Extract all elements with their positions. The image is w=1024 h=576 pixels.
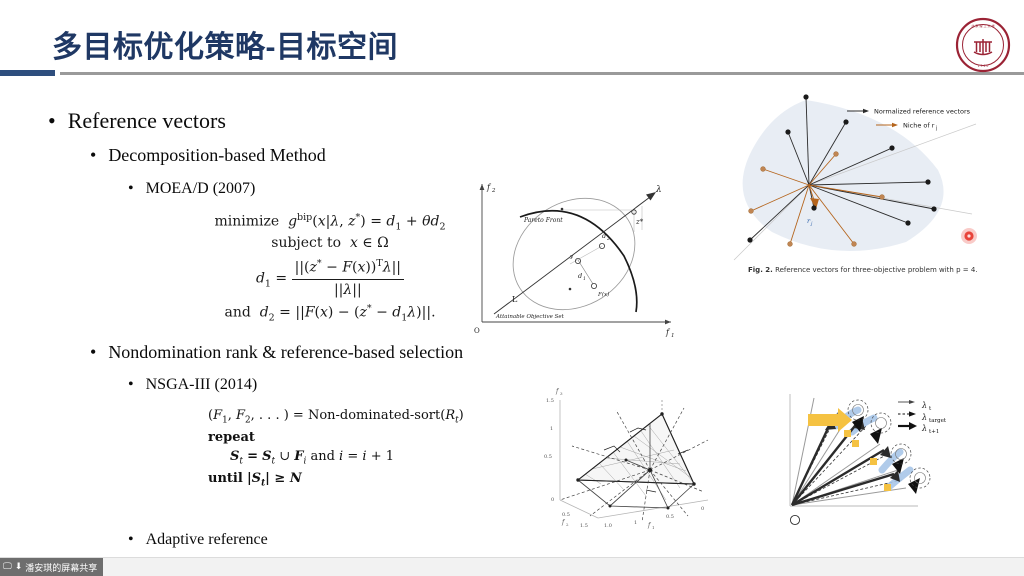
svg-text:1.5: 1.5	[580, 523, 588, 529]
nsga3-pseudocode-block: (F1, F2, . . . ) = Non-dominated-sort(Rt…	[208, 406, 488, 491]
svg-text:d: d	[602, 232, 606, 240]
bullet-label: Nondomination rank & reference-based sel…	[108, 342, 463, 362]
svg-text:1: 1	[550, 426, 553, 432]
svg-text:0.5: 0.5	[562, 512, 570, 518]
svg-text:1.5: 1.5	[546, 398, 554, 404]
svg-text:0.5: 0.5	[666, 514, 674, 520]
svg-text:Attainable Objective Set: Attainable Objective Set	[495, 314, 565, 320]
formula-line-d1: d1 = ||(z* − F(x))Tλ|| ||λ||	[205, 258, 455, 299]
share-label: 潘安琪的屏幕共享	[25, 561, 97, 574]
svg-text:1: 1	[634, 520, 637, 526]
bullet-marker: •	[128, 531, 134, 549]
bullet-nondomination-rank: •Nondomination rank & reference-based se…	[90, 342, 463, 363]
svg-text:1 9 4 0: 1 9 4 0	[978, 64, 989, 68]
svg-text:target: target	[929, 418, 947, 424]
svg-text:0: 0	[551, 497, 554, 503]
svg-text:2: 2	[606, 236, 610, 242]
bullet-nsga3: •NSGA-III (2014)	[128, 376, 257, 394]
svg-text:t: t	[929, 406, 932, 412]
svg-text:λ: λ	[921, 424, 927, 433]
svg-text:3: 3	[560, 391, 563, 396]
university-seal-logo: 北 京 理 工 大 学 1 9 4 0	[954, 16, 1012, 74]
svg-text:λ: λ	[655, 185, 662, 195]
bullet-reference-vectors: •Reference vectors	[48, 108, 226, 134]
bullet-marker: •	[90, 342, 96, 363]
formula-line-d2: and d2 = ||F(x) − (z* − d1λ)||.	[205, 303, 455, 325]
download-icon: ⬇	[15, 563, 23, 572]
bullet-adaptive-reference: •Adaptive reference	[128, 531, 268, 549]
pseudocode-line-3: St = St ∪ Fi and i = i + 1	[208, 447, 488, 469]
bullet-marker: •	[128, 180, 134, 198]
bullet-label: NSGA-III (2014)	[146, 376, 258, 393]
svg-text:d: d	[578, 272, 582, 280]
page-title: 多目标优化策略-目标空间	[52, 22, 398, 66]
taskbar: 🖵 ⬇ 潘安琪的屏幕共享	[0, 557, 1024, 576]
nsga3-3d-figure: 1.5 1 0.5 0 f 3 0.5 1.5 1.0 1 0.5 0 f 2 …	[538, 388, 718, 533]
pseudocode-line-2: repeat	[208, 428, 488, 448]
bullet-label: Reference vectors	[68, 108, 226, 133]
svg-text:2: 2	[491, 188, 496, 194]
svg-text:2: 2	[566, 522, 569, 527]
screen-share-indicator[interactable]: 🖵 ⬇ 潘安琪的屏幕共享	[0, 558, 103, 576]
svg-text:1.0: 1.0	[604, 523, 612, 529]
svg-text:L: L	[512, 295, 518, 304]
formula-line-minimize: minimize gbip(x|λ, z*) = d1 + θd2	[205, 212, 455, 234]
bullet-label: Adaptive reference	[146, 531, 268, 548]
svg-text:Normalized reference vectors: Normalized reference vectors	[874, 108, 971, 116]
svg-text:Pareto Front: Pareto Front	[523, 217, 563, 224]
svg-text:1: 1	[671, 333, 675, 339]
svg-text:F(x): F(x)	[597, 291, 609, 298]
formula-line-subject-to: subject to x ∈ Ω	[205, 234, 455, 253]
bullet-label: MOEA/D (2007)	[146, 180, 256, 197]
adaptive-reference-figure: λt λtarget λt+1	[780, 388, 990, 533]
bullet-label: Decomposition-based Method	[108, 145, 325, 165]
svg-text:北 京 理 工 大 学: 北 京 理 工 大 学	[971, 23, 994, 28]
bullet-marker: •	[90, 145, 96, 166]
svg-text:λ: λ	[921, 401, 927, 410]
pseudocode-line-4: until |St| ≥ N	[208, 469, 488, 491]
svg-text:0: 0	[701, 506, 704, 512]
svg-text:z*: z*	[635, 218, 644, 226]
reference-vectors-figure: r j Normalized reference vectors Niche o…	[706, 92, 1006, 270]
svg-text:j: j	[935, 126, 937, 132]
pseudocode-line-1: (F1, F2, . . . ) = Non-dominated-sort(Rt…	[208, 406, 488, 428]
bullet-moead: •MOEA/D (2007)	[128, 180, 255, 198]
svg-text:λ: λ	[921, 413, 927, 422]
bullet-marker: •	[48, 108, 56, 134]
svg-text:1: 1	[583, 276, 586, 282]
svg-text:0.5: 0.5	[544, 454, 552, 460]
svg-text:1: 1	[652, 525, 655, 530]
bullet-decomposition-method: •Decomposition-based Method	[90, 145, 326, 166]
title-accent-bar	[0, 70, 55, 76]
svg-text:Niche of r: Niche of r	[903, 122, 935, 130]
moead-formula-block: minimize gbip(x|λ, z*) = d1 + θd2 subjec…	[205, 212, 455, 325]
moead-decomposition-figure: f2 f1 O λ z* d2 d1 L F(x) y Pareto Front…	[466, 172, 688, 340]
title-divider-rule	[60, 72, 1024, 75]
bullet-marker: •	[128, 376, 134, 394]
svg-text:t+1: t+1	[929, 429, 939, 435]
slide-canvas: 多目标优化策略-目标空间 北 京 理 工 大 学 1 9 4 0 •Refere…	[0, 0, 1024, 576]
monitor-icon: 🖵	[3, 563, 12, 572]
figure2-caption: Fig. 2. Reference vectors for three-obje…	[748, 266, 978, 274]
svg-text:O: O	[474, 327, 480, 335]
